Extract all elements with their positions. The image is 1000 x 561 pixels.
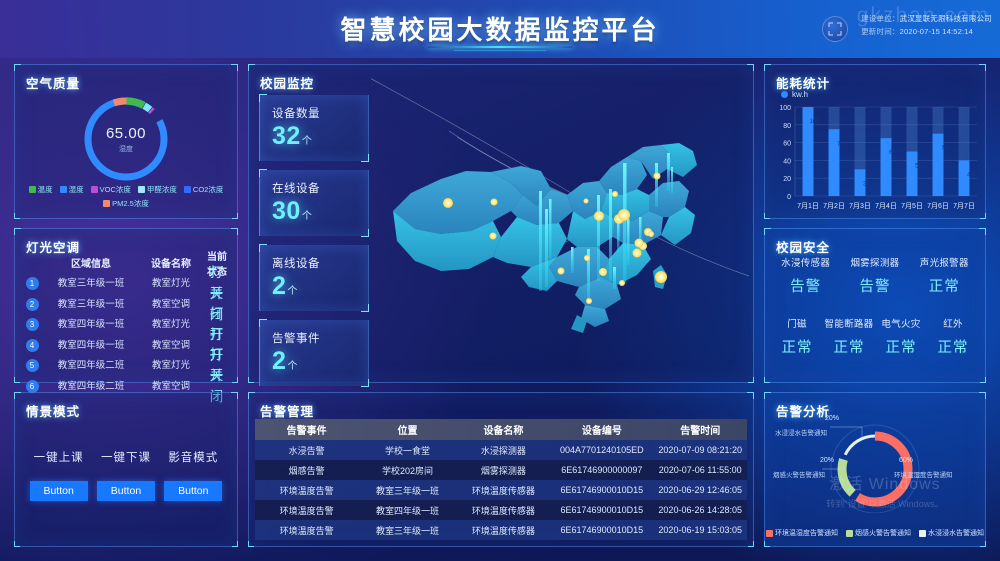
- row-device: 教室空调: [139, 337, 203, 351]
- cell-event: 水浸告警: [255, 444, 358, 457]
- cell-device-id: 6E61746900000097: [550, 465, 653, 475]
- column-header-device: 设备名称: [139, 255, 203, 270]
- lighting-table-header: 区域信息 设备名称 当前状态: [21, 253, 231, 272]
- column-header-device-id: 设备编号: [550, 422, 653, 437]
- campus-monitoring-title: 校园监控: [260, 73, 314, 92]
- safety-row: 门磁 正常 智能断路器 正常 电气火灾 正常 红外 正常: [771, 316, 979, 357]
- stat-value: 2个: [272, 347, 298, 376]
- air-quality-donut: 65.00 湿度: [15, 89, 237, 189]
- safety-label: 烟雾探测器: [840, 255, 909, 269]
- cell-event: 烟感告警: [255, 464, 358, 477]
- svg-text:7月3日: 7月3日: [849, 202, 871, 210]
- page-title: 智慧校园大数据监控平台: [0, 10, 1000, 47]
- scene-mode-panel: 情景模式 一键上课 一键下课 影音模式 Button Button Button: [14, 392, 238, 547]
- legend-label: 甲醛浓度: [147, 184, 177, 195]
- cell-location: 学校202房间: [358, 464, 456, 477]
- column-header-device: 设备名称: [457, 422, 550, 437]
- safety-row: 水浸传感器 告警 烟雾探测器 告警 声光报警器 正常: [771, 255, 979, 296]
- cell-event: 环境温度告警: [255, 484, 358, 497]
- stat-label: 在线设备: [272, 180, 320, 196]
- alarm-management-title: 告警管理: [260, 401, 314, 420]
- status-badge: 告警: [840, 275, 909, 296]
- svg-text:0: 0: [787, 194, 791, 201]
- legend-item[interactable]: PM2.5浓度: [103, 198, 149, 209]
- scene-button-av-mode[interactable]: Button: [164, 481, 222, 501]
- alarm-table: 告警事件 位置 设备名称 设备编号 告警时间 水浸告警 学校一食堂 水浸探测器 …: [255, 419, 747, 540]
- legend-item[interactable]: 烟感火警告警通知: [846, 528, 911, 538]
- legend-label: 烟感火警告警通知: [855, 528, 911, 538]
- stat-label: 告警事件: [272, 330, 320, 346]
- table-row[interactable]: 环境温度告警 教室三年级一班 环境温度传感器 6E61746900010D15 …: [255, 520, 747, 540]
- status-badge: 正常: [910, 275, 979, 296]
- cell-time: 2020-06-19 15:03:05: [653, 525, 746, 535]
- energy-bar-chart: 0204060801001007月1日757月2日307月3日657月4日507…: [773, 103, 979, 212]
- scene-label-class-end: 一键下课: [101, 449, 151, 465]
- energy-statistics-panel: 能耗统计 kw.h 0204060801001007月1日757月2日307月3…: [764, 64, 986, 219]
- scene-button-class-end[interactable]: Button: [97, 481, 155, 501]
- campus-monitoring-panel: 校园监控 设备数量 32个 在线设备 30个 离线设备 2个 告警事件 2个: [248, 64, 754, 383]
- legend-item[interactable]: 温度: [29, 184, 53, 195]
- table-row[interactable]: 4 教室四年级一班 教室空调 打开: [21, 334, 231, 355]
- row-index: 1: [26, 277, 39, 290]
- legend-label: 湿度: [69, 184, 84, 195]
- column-header-location: 位置: [358, 422, 456, 437]
- legend-label: CO2浓度: [193, 184, 223, 195]
- status-badge: 正常: [927, 336, 979, 357]
- svg-text:7月4日: 7月4日: [875, 202, 897, 210]
- svg-text:7月6日: 7月6日: [927, 202, 949, 210]
- svg-text:7月1日: 7月1日: [797, 202, 819, 210]
- legend-swatch: [846, 530, 853, 537]
- table-row[interactable]: 环境温度告警 教室三年级一班 环境温度传感器 6E61746900010D15 …: [255, 480, 747, 500]
- cell-time: 2020-07-06 11:55:00: [653, 465, 746, 475]
- safety-label: 门磁: [771, 316, 823, 330]
- safety-label: 水浸传感器: [771, 255, 840, 269]
- lighting-ac-panel: 灯光空调 区域信息 设备名称 当前状态 1 教室三年级一班 教室灯光 打开 2 …: [14, 228, 238, 383]
- svg-text:7月5日: 7月5日: [901, 202, 923, 210]
- update-time-label: 更新时间：: [861, 27, 900, 36]
- legend-swatch: [766, 530, 773, 537]
- scene-labels: 一键上课 一键下课 影音模式: [25, 449, 227, 465]
- air-quality-panel: 空气质量 65.00 湿度 温度: [14, 64, 238, 219]
- stat-unit: 个: [302, 211, 313, 222]
- cell-device: 水浸探测器: [457, 444, 550, 457]
- stat-value: 32个: [272, 122, 312, 151]
- cell-device: 环境温度传感器: [457, 484, 550, 497]
- cell-location: 教室四年级一班: [358, 504, 456, 517]
- legend-item[interactable]: 水浸浸水告警通知: [919, 528, 984, 538]
- update-time-value: 2020-07-15 14:52:14: [900, 27, 973, 36]
- legend-item[interactable]: 环境温湿度告警通知: [766, 528, 838, 538]
- safety-item-door-magnet[interactable]: 门磁 正常: [771, 316, 823, 357]
- legend-swatch: [919, 530, 926, 537]
- row-device: 教室灯光: [139, 275, 203, 289]
- energy-legend[interactable]: kw.h: [781, 90, 808, 99]
- cell-time: 2020-07-09 08:21:20: [653, 445, 746, 455]
- cell-event: 环境温度告警: [255, 504, 358, 517]
- column-header-area: 区域信息: [43, 255, 139, 270]
- stat-label: 设备数量: [272, 105, 320, 121]
- svg-text:7月2日: 7月2日: [823, 202, 845, 210]
- row-device: 教室空调: [139, 378, 203, 392]
- campus-safety-title: 校园安全: [776, 237, 830, 256]
- cell-time: 2020-06-29 12:46:05: [653, 485, 746, 495]
- safety-label: 智能断路器: [823, 316, 875, 330]
- legend-swatch: [184, 186, 191, 193]
- scene-label-av-mode: 影音模式: [168, 449, 218, 465]
- row-area: 教室四年级二班: [43, 378, 139, 392]
- alarm-analysis-panel: 告警分析 20% 水浸浸水告警通知 20% 烟感火警告警通知 60% 环境温湿度…: [764, 392, 986, 547]
- safety-label: 红外: [927, 316, 979, 330]
- stat-card-device-online[interactable]: 在线设备 30个: [259, 170, 369, 236]
- legend-label: 水浸浸水告警通知: [928, 528, 984, 538]
- air-value: 65.00: [106, 125, 146, 142]
- dashboard-root: gkzhan.com 智慧校园大数据监控平台 建设单位：武汉显联无限科技有限公司…: [0, 0, 1000, 561]
- stat-card-device-total[interactable]: 设备数量 32个: [259, 95, 369, 161]
- analysis-pct-temp: 60%: [899, 457, 913, 464]
- cell-device: 烟雾探测器: [457, 464, 550, 477]
- svg-text:75: 75: [837, 141, 844, 147]
- analysis-pct-smoke: 20%: [820, 457, 834, 464]
- cell-location: 学校一食堂: [358, 444, 456, 457]
- svg-text:20: 20: [783, 176, 791, 183]
- stat-unit: 个: [302, 136, 313, 147]
- legend-label: 温度: [38, 184, 53, 195]
- legend-swatch: [138, 186, 145, 193]
- column-header-time: 告警时间: [653, 422, 746, 437]
- row-area: 教室三年级一班: [43, 296, 139, 310]
- build-org-label: 建设单位：: [861, 14, 900, 23]
- campus-safety-panel: 校园安全 水浸传感器 告警 烟雾探测器 告警 声光报警器 正常 门磁: [764, 228, 986, 383]
- safety-item-smoke-detector[interactable]: 烟雾探测器 告警: [840, 255, 909, 296]
- row-index: 5: [26, 359, 39, 372]
- row-area: 教室四年级一班: [43, 337, 139, 351]
- cell-device-id: 6E61746900010D15: [550, 485, 653, 495]
- row-index: 3: [26, 318, 39, 331]
- build-org-value: 武汉显联无限科技有限公司: [900, 14, 992, 23]
- legend-swatch: [60, 186, 67, 193]
- legend-label: PM2.5浓度: [112, 198, 149, 209]
- svg-text:100: 100: [779, 105, 791, 112]
- table-row[interactable]: 环境温度告警 教室四年级一班 环境温度传感器 6E61746900010D15 …: [255, 500, 747, 520]
- row-area: 教室四年级二班: [43, 357, 139, 371]
- safety-item-sound-light-alarm[interactable]: 声光报警器 正常: [910, 255, 979, 296]
- table-row[interactable]: 1 教室三年级一班 教室灯光 打开: [21, 272, 231, 293]
- scene-label-class-start: 一键上课: [34, 449, 84, 465]
- cell-device-id: 6E61746900010D15: [550, 525, 653, 535]
- status-badge: 正常: [875, 336, 927, 357]
- cell-location: 教室三年级一班: [358, 484, 456, 497]
- svg-text:30: 30: [863, 181, 870, 187]
- row-index: 4: [26, 339, 39, 352]
- air-donut-center: 65.00 湿度: [80, 93, 172, 185]
- cell-device-id: 6E61746900010D15: [550, 505, 653, 515]
- cell-location: 教室三年级一班: [358, 524, 456, 537]
- scene-button-class-start[interactable]: Button: [30, 481, 88, 501]
- row-device: 教室灯光: [139, 316, 203, 330]
- build-org-line: 建设单位：武汉显联无限科技有限公司: [861, 12, 992, 25]
- alarm-analysis-legend: 环境温湿度告警通知 烟感火警告警通知 水浸浸水告警通知: [769, 528, 981, 538]
- air-legend: 温度 湿度 VOC浓度 甲醛浓度 CO2浓度 PM2.5浓度: [23, 184, 229, 209]
- legend-label: VOC浓度: [100, 184, 131, 195]
- stat-label: 离线设备: [272, 255, 320, 271]
- analysis-pct-water: 20%: [825, 415, 839, 422]
- svg-text:70: 70: [941, 146, 948, 152]
- column-header-event: 告警事件: [255, 422, 358, 437]
- safety-label: 电气火灾: [875, 316, 927, 330]
- title-underline-secondary: [454, 50, 546, 51]
- legend-swatch: [103, 200, 110, 207]
- svg-text:60: 60: [783, 141, 791, 148]
- cell-device-id: 004A7701240105ED: [550, 445, 653, 455]
- cell-device: 环境温度传感器: [457, 504, 550, 517]
- table-row[interactable]: 3 教室四年级一班 教室灯光 打开: [21, 313, 231, 334]
- svg-text:7月7日: 7月7日: [953, 202, 975, 210]
- scene-mode-title: 情景模式: [26, 401, 80, 420]
- scene-buttons: Button Button Button: [25, 481, 227, 501]
- china-map[interactable]: [371, 71, 749, 378]
- svg-text:50: 50: [915, 164, 922, 170]
- expand-icon: [828, 22, 842, 36]
- update-time-line: 更新时间：2020-07-15 14:52:14: [861, 25, 992, 38]
- energy-legend-label: kw.h: [792, 90, 808, 99]
- svg-text:40: 40: [783, 158, 791, 165]
- legend-item[interactable]: 甲醛浓度: [138, 184, 177, 195]
- legend-label: 环境温湿度告警通知: [775, 528, 838, 538]
- row-area: 教室四年级一班: [43, 316, 139, 330]
- stat-card-alarm-events[interactable]: 告警事件 2个: [259, 320, 369, 386]
- logo-badge: [822, 16, 848, 42]
- safety-item-electrical-fire[interactable]: 电气火灾 正常: [875, 316, 927, 357]
- legend-swatch: [29, 186, 36, 193]
- header-meta: 建设单位：武汉显联无限科技有限公司 更新时间：2020-07-15 14:52:…: [861, 12, 992, 38]
- safety-item-infrared[interactable]: 红外 正常: [927, 316, 979, 357]
- svg-text:80: 80: [783, 123, 791, 130]
- cell-event: 环境温度告警: [255, 524, 358, 537]
- status-badge: 正常: [823, 336, 875, 357]
- stat-card-device-offline[interactable]: 离线设备 2个: [259, 245, 369, 311]
- legend-item[interactable]: VOC浓度: [91, 184, 131, 195]
- cell-device: 环境温度传感器: [457, 524, 550, 537]
- stat-value: 30个: [272, 197, 312, 226]
- svg-text:65: 65: [889, 150, 896, 156]
- safety-label: 声光报警器: [910, 255, 979, 269]
- stat-value: 2个: [272, 272, 298, 301]
- title-underline: [428, 46, 573, 48]
- alarm-analysis-donut: 20% 水浸浸水告警通知 20% 烟感火警告警通知 60% 环境温湿度告警通知: [765, 413, 985, 513]
- status-badge: 正常: [771, 336, 823, 357]
- table-row[interactable]: 2 教室三年级一班 教室空调 关闭: [21, 293, 231, 314]
- page-header: gkzhan.com 智慧校园大数据监控平台 建设单位：武汉显联无限科技有限公司…: [0, 0, 1000, 58]
- row-device: 教室空调: [139, 296, 203, 310]
- stat-unit: 个: [287, 361, 298, 372]
- row-index: 2: [26, 298, 39, 311]
- svg-text:100: 100: [809, 119, 820, 125]
- analysis-label-temp: 环境温湿度告警通知: [894, 469, 953, 479]
- legend-item[interactable]: 湿度: [60, 184, 84, 195]
- stat-card-column: 设备数量 32个 在线设备 30个 离线设备 2个 告警事件 2个: [259, 95, 369, 395]
- safety-item-smart-breaker[interactable]: 智能断路器 正常: [823, 316, 875, 357]
- legend-item[interactable]: CO2浓度: [184, 184, 223, 195]
- safety-item-water-sensor[interactable]: 水浸传感器 告警: [771, 255, 840, 296]
- energy-legend-dot: [781, 91, 788, 98]
- alarm-management-panel: 告警管理 告警事件 位置 设备名称 设备编号 告警时间 水浸告警 学校一食堂 水…: [248, 392, 754, 547]
- analysis-label-water: 水浸浸水告警通知: [775, 427, 827, 437]
- legend-swatch: [91, 186, 98, 193]
- svg-text:40: 40: [967, 172, 974, 178]
- analysis-label-smoke: 烟感火警告警通知: [773, 469, 825, 479]
- lighting-table: 区域信息 设备名称 当前状态 1 教室三年级一班 教室灯光 打开 2 教室三年级…: [21, 253, 231, 395]
- row-area: 教室三年级一班: [43, 275, 139, 289]
- stat-unit: 个: [287, 286, 298, 297]
- cell-time: 2020-06-26 14:28:05: [653, 505, 746, 515]
- table-row[interactable]: 水浸告警 学校一食堂 水浸探测器 004A7701240105ED 2020-0…: [255, 440, 747, 460]
- safety-grid: 水浸传感器 告警 烟雾探测器 告警 声光报警器 正常 门磁 正常 智: [771, 255, 979, 357]
- row-index: 6: [26, 380, 39, 393]
- status-badge: 告警: [771, 275, 840, 296]
- alarm-table-header: 告警事件 位置 设备名称 设备编号 告警时间: [255, 419, 747, 440]
- row-device: 教室灯光: [139, 357, 203, 371]
- table-row[interactable]: 5 教室四年级二班 教室灯光 打开: [21, 354, 231, 375]
- table-row[interactable]: 烟感告警 学校202房间 烟雾探测器 6E61746900000097 2020…: [255, 460, 747, 480]
- air-value-label: 湿度: [119, 144, 133, 154]
